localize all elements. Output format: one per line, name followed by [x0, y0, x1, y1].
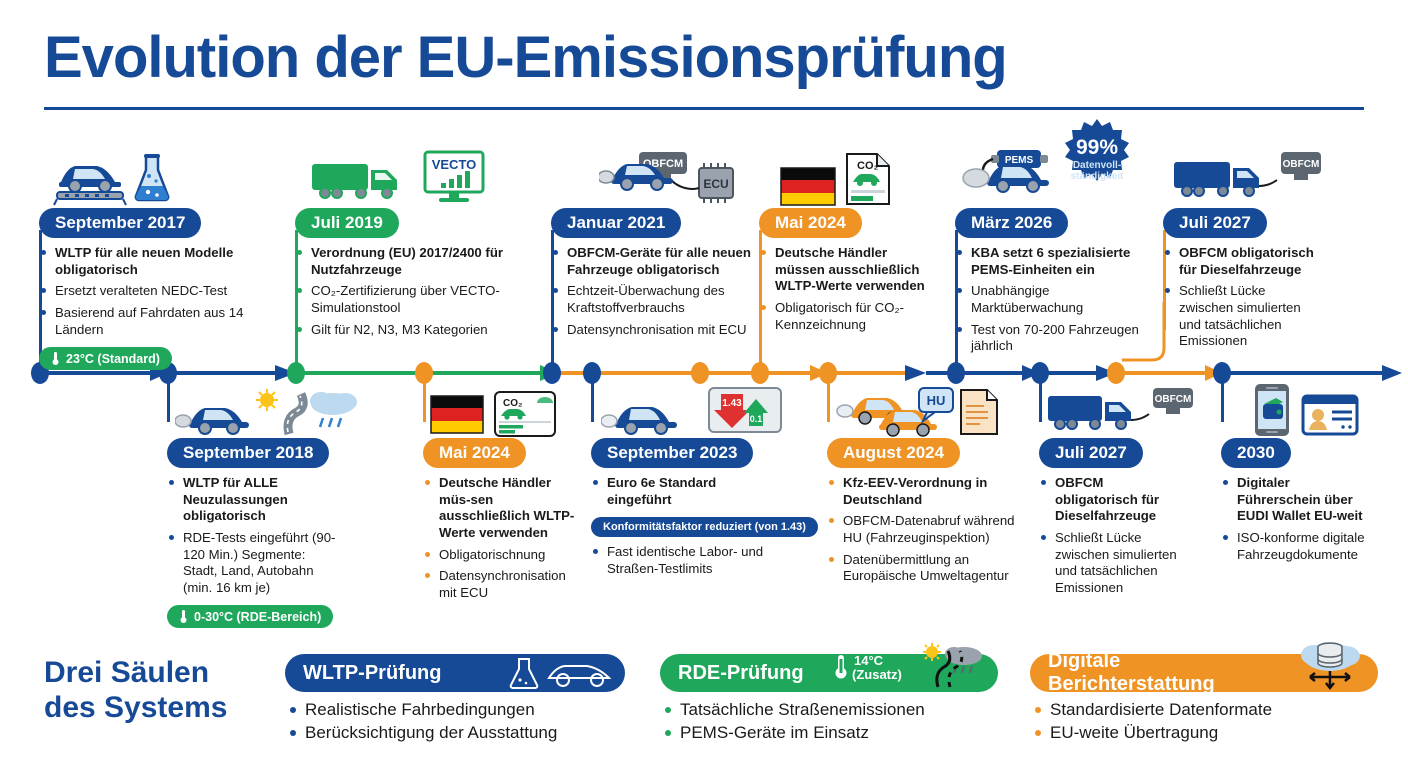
bullet-item: KBA setzt 6 spezialisierte PEMS-Einheite…	[955, 245, 1140, 278]
badge-label: Konformitätsfaktor reduziert (von 1.43)	[603, 521, 806, 533]
card-date-chip: Mai 2024	[759, 208, 862, 238]
thermometer-icon	[836, 655, 847, 679]
thermometer-icon	[179, 609, 188, 624]
bullet-item: WLTP für ALLE Neuzulassungen obligatoris…	[167, 475, 342, 525]
lab-flask-icon	[511, 659, 538, 688]
badge-label: 0-30°C (RDE-Bereich)	[194, 610, 321, 624]
bullet-list: OBFCM-Geräte für alle neuen Fahrzeuge ob…	[551, 245, 751, 338]
rde-icons: 14°C (Zusatz)	[828, 643, 988, 689]
percentage-seal-icon: 99% Datenvoll- ständigkeit	[1055, 116, 1139, 200]
id-card-icon	[1301, 392, 1359, 438]
card-date-chip: August 2024	[827, 438, 960, 468]
bullet-list: OBFCM obligatorisch für Dieselfahrzeuge …	[1163, 245, 1323, 350]
document-icon	[961, 390, 997, 434]
pillar-label: RDE-Prüfung	[678, 662, 804, 685]
card-icons: PEMS 99% Datenvoll- ständigkeit	[955, 146, 1155, 208]
card-body: OBFCM-Geräte für alle neuen Fahrzeuge ob…	[551, 238, 751, 338]
pillar-rde[interactable]: RDE-Prüfung 14°C (Zusatz)	[660, 654, 998, 746]
pillar-header[interactable]: RDE-Prüfung 14°C (Zusatz)	[660, 654, 998, 692]
bullet-item: Fast identische Labor- und Straßen-Testl…	[591, 544, 771, 577]
bullet-item: Deutsche Händler müssen ausschließlich W…	[759, 245, 939, 295]
header: Evolution der EU-Emissionsprüfung	[44, 28, 1364, 110]
bullet-item: Datensynchronisation mit ECU	[423, 568, 583, 601]
card-date-chip: Januar 2021	[551, 208, 681, 238]
card-icons: OBFCM	[1039, 390, 1204, 438]
timeline-card-september-2018[interactable]: September 2018 WLTP für ALLE Neuzulassun…	[167, 390, 382, 629]
factor-new-value: 0.1	[750, 414, 763, 424]
svg-text:Datenvoll-: Datenvoll-	[1073, 160, 1121, 171]
card-body: Verordnung (EU) 2017/2400 für Nutzfahrze…	[295, 238, 515, 338]
bullet-item: Digitaler Führerschein über EUDI Wallet …	[1221, 475, 1376, 525]
bullet-item: EU-weite Übertragung	[1030, 722, 1378, 743]
bullet-list: WLTP für ALLE Neuzulassungen obligatoris…	[167, 475, 342, 596]
bullet-list: Digitaler Führerschein über EUDI Wallet …	[1221, 475, 1376, 563]
pillar-wltp[interactable]: WLTP-Prüfung Realistische Fahrbedingunge…	[285, 654, 625, 746]
bullet-item: Schließt Lücke zwischen simulierten und …	[1039, 530, 1189, 597]
pillar-header[interactable]: Digitale Berichterstattung	[1030, 654, 1378, 692]
co2-label-document-icon: CO₂	[843, 152, 895, 208]
card-body: Deutsche Händler müs-sen ausschließlich …	[423, 468, 601, 601]
bullet-list: WLTP für alle neuen Modelle obligatorisc…	[39, 245, 254, 338]
bullet-item: Standardisierte Datenformate	[1030, 699, 1378, 720]
timeline-card-mai-2024-top[interactable]: CO₂ Mai 2024 Deutsche Händler müssen aus…	[759, 146, 939, 338]
green-truck-icon	[309, 152, 417, 208]
co2-label: CO₂	[503, 398, 522, 409]
badge-label: 23°C (Standard)	[66, 352, 160, 366]
card-date-chip: Mai 2024	[423, 438, 526, 468]
car-exhaust-icon: OBFCM ECU	[599, 150, 749, 208]
card-date-chip: März 2026	[955, 208, 1068, 238]
card-body: KBA setzt 6 spezialisierte PEMS-Einheite…	[955, 238, 1155, 355]
bullet-list: Deutsche Händler müs-sen ausschließlich …	[423, 475, 583, 601]
co2-efficiency-label-icon: CO₂	[493, 390, 557, 438]
winding-road-icon	[288, 394, 303, 434]
bullet-item: Tatsächliche Straßenemissionen	[660, 699, 998, 720]
rde-conditions-icon	[175, 388, 375, 438]
bullet-item: Verordnung (EU) 2017/2400 für Nutzfahrze…	[295, 245, 515, 278]
sun-icon	[926, 646, 938, 658]
arrows-comparison-icon: 1.43 0.1	[707, 386, 783, 438]
temperature-badge: 0-30°C (RDE-Bereich)	[167, 605, 333, 628]
card-icons	[167, 390, 382, 438]
wltp-icons	[505, 656, 615, 690]
bullet-list: Fast identische Labor- und Straßen-Testl…	[591, 544, 771, 577]
svg-text:VECTO: VECTO	[432, 157, 477, 172]
bullet-list: Tatsächliche Straßenemissionen PEMS-Gerä…	[660, 699, 998, 744]
svg-text:ständigkeit: ständigkeit	[1071, 171, 1124, 182]
rde-temp-note: (Zusatz)	[852, 667, 902, 682]
title-divider	[44, 107, 1364, 110]
blue-truck-icon: OBFCM	[1045, 386, 1195, 438]
bullet-list: KBA setzt 6 spezialisierte PEMS-Einheite…	[955, 245, 1140, 355]
card-body: WLTP für alle neuen Modelle obligatorisc…	[39, 238, 254, 371]
bullet-list: Deutsche Händler müssen ausschließlich W…	[759, 245, 939, 333]
bullet-list: Euro 6e Standard eingeführt	[591, 475, 771, 508]
transfer-arrows-icon	[1310, 671, 1350, 688]
bullet-item: PEMS-Geräte im Einsatz	[660, 722, 998, 743]
card-body: Euro 6e Standard eingeführt Konformitäts…	[591, 468, 791, 578]
card-date-chip: September 2017	[39, 208, 201, 238]
bullet-item: Datensynchronisation mit ECU	[551, 322, 751, 339]
card-icons: CO₂	[759, 146, 939, 208]
card-body: WLTP für ALLE Neuzulassungen obligatoris…	[167, 468, 382, 629]
car-outline-icon	[549, 666, 609, 686]
timeline-card-august-2024[interactable]: HU August 2024 Kfz-EEV-Verordnung in Deu…	[827, 390, 1027, 590]
timeline-card-september-2023[interactable]: 1.43 0.1 September 2023 Euro 6e Standard…	[591, 390, 791, 583]
factor-old-value: 1.43	[722, 398, 742, 409]
cloud-database-icon	[1292, 637, 1368, 693]
bullet-item: OBFCM-Geräte für alle neuen Fahrzeuge ob…	[551, 245, 751, 278]
timeline-card-september-2017[interactable]: September 2017 WLTP für alle neuen Model…	[39, 146, 254, 371]
card-body: Deutsche Händler müssen ausschließlich W…	[759, 238, 939, 333]
timeline-card-januar-2021[interactable]: OBFCM ECU Januar 2021 OBFCM-Geräte für a…	[551, 146, 751, 343]
card-icons	[39, 146, 254, 208]
bullet-item: OBFCM-Datenabruf während HU (Fahrzeugins…	[827, 513, 1027, 546]
bullet-item: WLTP für alle neuen Modelle obligatorisc…	[39, 245, 254, 278]
bullet-item: OBFCM obligatorisch für Dieselfahrzeuge	[1163, 245, 1323, 278]
pems-label: PEMS	[1005, 155, 1034, 166]
card-date-chip: September 2018	[167, 438, 329, 468]
card-date-chip: Juli 2027	[1163, 208, 1267, 238]
timeline-card-maerz-2026[interactable]: PEMS 99% Datenvoll- ständigkeit März 202…	[955, 146, 1155, 360]
bullet-list: Standardisierte Datenformate EU-weite Üb…	[1030, 699, 1378, 744]
pillar-header[interactable]: WLTP-Prüfung	[285, 654, 625, 692]
pillars-title-line2: des Systems	[44, 691, 227, 726]
bullet-item: Gilt für N2, N3, M3 Kategorien	[295, 322, 515, 339]
timeline-card-juli-2027-bottom[interactable]: OBFCM Juli 2027 OBFCM obligatorisch für …	[1039, 390, 1204, 601]
card-date-chip: September 2023	[591, 438, 753, 468]
bullet-item: Echtzeit-Überwachung des Kraftstoffverbr…	[551, 283, 751, 316]
hu-label: HU	[927, 393, 946, 408]
sun-icon	[260, 393, 274, 407]
bullet-item: Kfz-EEV-Verordnung in Deutschland	[827, 475, 1027, 508]
card-date-chip: Juli 2027	[1039, 438, 1143, 468]
card-date-chip: 2030	[1221, 438, 1291, 468]
pillar-label: WLTP-Prüfung	[303, 662, 441, 685]
timeline-card-juli-2027-top[interactable]: OBFCM Juli 2027 OBFCM obligatorisch für …	[1163, 146, 1353, 355]
rde-temp-value: 14°C	[854, 653, 884, 668]
pillars-title-line1: Drei Säulen	[44, 656, 227, 691]
card-icons: HU	[827, 390, 1027, 438]
bullet-list: OBFCM obligatorisch für Dieselfahrzeuge …	[1039, 475, 1189, 596]
card-body: OBFCM obligatorisch für Dieselfahrzeuge …	[1039, 468, 1204, 596]
bullet-item: CO₂-Zertifizierung über VECTO-Simulation…	[295, 283, 515, 316]
bullet-item: RDE-Tests eingeführt (90-120 Min.) Segme…	[167, 530, 342, 597]
card-icons: 1.43 0.1	[591, 390, 791, 438]
phone-wallet-icon	[1251, 382, 1295, 438]
vecto-monitor-icon: VECTO	[423, 150, 485, 208]
pillar-digital-reporting[interactable]: Digitale Berichterstattung Sta	[1030, 654, 1378, 746]
bullet-item: Realistische Fahrbedingungen	[285, 699, 625, 720]
bullet-item: Berücksichtigung der Ausstattung	[285, 722, 625, 743]
badge-value: 99%	[1076, 136, 1118, 159]
bullet-item: Obligatorisch für CO₂-Kennzeichnung	[759, 300, 939, 333]
ecu-label: ECU	[703, 177, 728, 191]
bullet-item: Unabhängige Marktüberwachung	[955, 283, 1140, 316]
co2-label: CO₂	[857, 160, 879, 172]
lab-flask-icon	[133, 152, 171, 208]
bullet-item: Basierend auf Fahrdaten aus 14 Ländern	[39, 305, 254, 338]
bullet-item: Datenübermittlung an Europäische Umwelta…	[827, 552, 1027, 585]
german-flag-icon	[429, 392, 487, 438]
bullet-list: Realistische Fahrbedingungen Berücksicht…	[285, 699, 625, 744]
blue-car-icon	[601, 390, 701, 438]
german-flag-icon	[779, 166, 837, 208]
conformity-factor-badge: Konformitätsfaktor reduziert (von 1.43)	[591, 517, 818, 537]
timeline-card-2030[interactable]: 2030 Digitaler Führerschein über EUDI Wa…	[1221, 390, 1386, 568]
page-title: Evolution der EU-Emissionsprüfung	[44, 28, 1364, 89]
bullet-item: Euro 6e Standard eingeführt	[591, 475, 771, 508]
bullet-item: Test von 70-200 Fahrzeugen jährlich	[955, 322, 1140, 355]
blue-truck-icon: OBFCM	[1171, 150, 1321, 208]
hu-inspection-icon: HU	[835, 386, 1025, 438]
card-date-chip: Juli 2019	[295, 208, 399, 238]
temperature-badge: 23°C (Standard)	[39, 347, 172, 370]
bullet-list: Kfz-EEV-Verordnung in Deutschland OBFCM-…	[827, 475, 1027, 585]
card-icons: OBFCM	[1163, 146, 1353, 208]
car-on-rollers-icon	[53, 152, 127, 208]
card-icons: CO₂	[423, 390, 601, 438]
thermometer-icon	[51, 351, 60, 366]
obfcm-label: OBFCM	[1155, 394, 1192, 405]
card-icons: OBFCM ECU	[551, 146, 751, 208]
bullet-item: Deutsche Händler müs-sen ausschließlich …	[423, 475, 583, 542]
bullet-item: Schließt Lücke zwischen simulierten und …	[1163, 283, 1323, 350]
bullet-item: OBFCM obligatorisch für Dieselfahrzeuge	[1039, 475, 1189, 525]
obfcm-label: OBFCM	[1283, 159, 1320, 170]
card-body: Digitaler Führerschein über EUDI Wallet …	[1221, 468, 1386, 563]
card-icons	[1221, 390, 1386, 438]
pillars-title: Drei Säulen des Systems	[44, 656, 227, 725]
card-body: OBFCM obligatorisch für Dieselfahrzeuge …	[1163, 238, 1353, 350]
bullet-list: Verordnung (EU) 2017/2400 für Nutzfahrze…	[295, 245, 515, 338]
bullet-item: ISO-konforme digitale Fahrzeugdokumente	[1221, 530, 1376, 563]
bullet-item: Obligatorischnung	[423, 547, 583, 564]
pillars-section: Drei Säulen des Systems WLTP-Prüfung Rea…	[0, 640, 1408, 768]
card-body: Kfz-EEV-Verordnung in Deutschland OBFCM-…	[827, 468, 1027, 585]
timeline-card-mai-2024-bottom[interactable]: CO₂ Mai 2024 Deutsche Händler müs-sen au…	[423, 390, 601, 606]
bullet-item: Ersetzt veralteten NEDC-Test	[39, 283, 254, 300]
pillar-label: Digitale Berichterstattung	[1048, 650, 1292, 696]
timeline-card-juli-2019[interactable]: VECTO Juli 2019 Verordnung (EU) 2017/240…	[295, 146, 515, 343]
card-icons: VECTO	[295, 146, 515, 208]
rain-cloud-icon	[310, 392, 357, 427]
